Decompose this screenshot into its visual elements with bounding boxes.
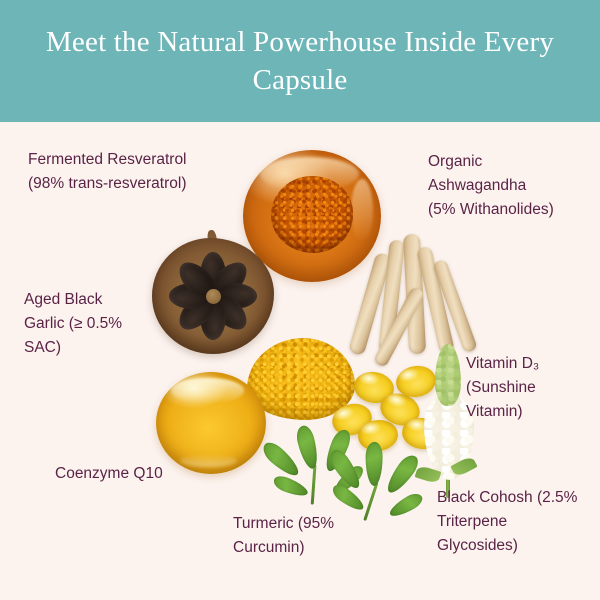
page-title: Meet the Natural Powerhouse Inside Every… <box>30 23 570 99</box>
label-organic-ashwagandha: Organic Ashwagandha (5% Withanolides) <box>428 150 588 222</box>
label-vitamin-d3: Vitamin D₃ (Sunshine Vitamin) <box>466 352 596 424</box>
black-garlic-image <box>152 238 274 354</box>
cohosh-buds <box>435 344 461 406</box>
ashwagandha-roots-image <box>358 232 476 360</box>
label-turmeric: Turmeric (95% Curcumin) <box>233 512 393 560</box>
header-banner: Meet the Natural Powerhouse Inside Every… <box>0 0 600 122</box>
coq10-droplet-image <box>156 372 266 474</box>
leaflet <box>382 451 422 497</box>
leaflet <box>294 424 321 471</box>
leaf-stalk <box>311 465 317 505</box>
label-coenzyme-q10: Coenzyme Q10 <box>55 462 235 486</box>
label-fermented-resveratrol: Fermented Resveratrol (98% trans-resvera… <box>28 148 243 196</box>
ingredient-infographic: Meet the Natural Powerhouse Inside Every… <box>0 0 600 600</box>
label-aged-black-garlic: Aged Black Garlic (≥ 0.5% SAC) <box>24 288 164 360</box>
droplet-highlight <box>171 378 244 402</box>
leaflet <box>366 442 383 486</box>
garlic-core <box>206 289 221 304</box>
label-black-cohosh: Black Cohosh (2.5% Triterpene Glycosides… <box>437 486 597 558</box>
leaflet <box>271 473 310 499</box>
resveratrol-powder <box>271 176 354 253</box>
